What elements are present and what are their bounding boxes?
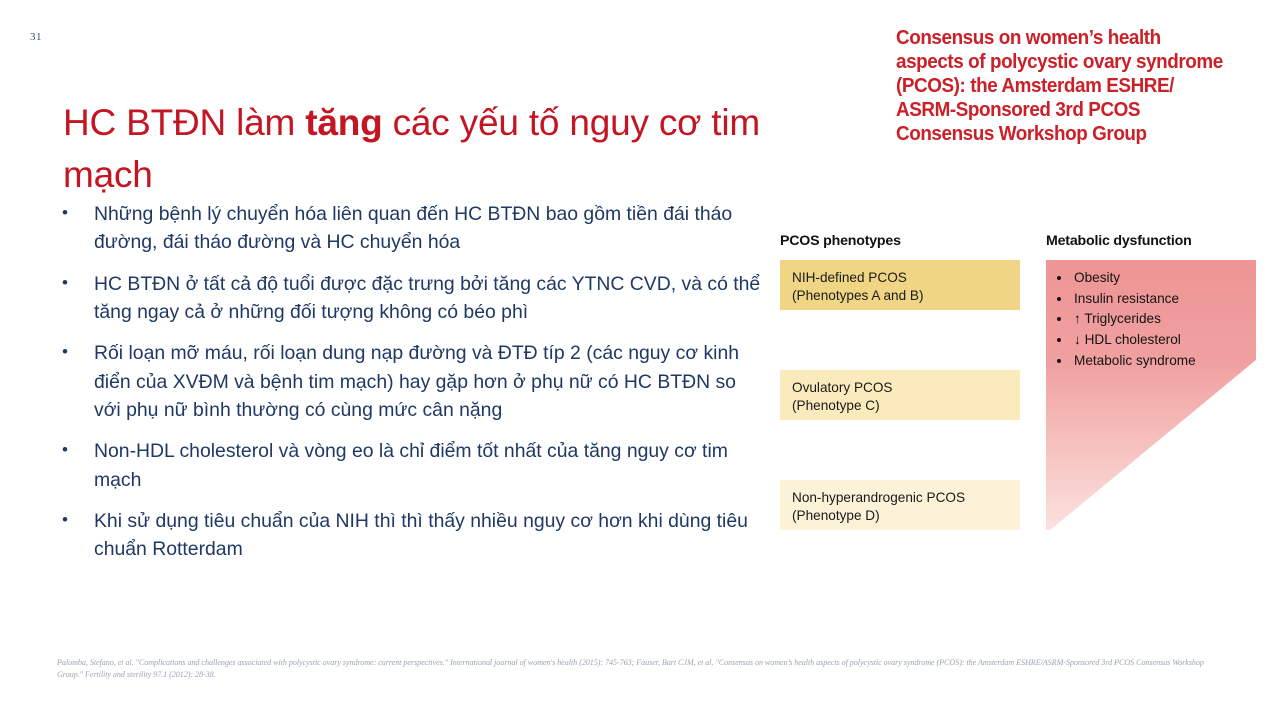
metabolic-item: Insulin resistance bbox=[1072, 289, 1256, 310]
metabolic-dysfunction-list: Obesity Insulin resistance ↑ Triglycerid… bbox=[1046, 260, 1256, 371]
phenotype-box-nih: NIH-defined PCOS (Phenotypes A and B) bbox=[780, 260, 1020, 310]
list-item-text: Khi sử dụng tiêu chuẩn của NIH thì thì t… bbox=[94, 507, 768, 564]
phenotype-box-ovulatory: Ovulatory PCOS (Phenotype C) bbox=[780, 370, 1020, 420]
slide-number: 31 bbox=[30, 31, 42, 43]
list-item-text: Non-HDL cholesterol và vòng eo là chỉ đi… bbox=[94, 437, 768, 494]
citation-footer: Palomba, Stefano, et al. "Complications … bbox=[57, 657, 1217, 682]
title-emphasis: tăng bbox=[305, 102, 382, 143]
page-title: HC BTĐN làm tăng các yếu tố nguy cơ tim … bbox=[63, 97, 853, 202]
metabolic-item: Obesity bbox=[1072, 268, 1256, 289]
list-item-text: Rối loạn mỡ máu, rối loạn dung nạp đường… bbox=[94, 339, 768, 424]
list-item-text: Những bệnh lý chuyển hóa liên quan đến H… bbox=[94, 200, 768, 257]
journal-title-line-5: Consensus Workshop Group bbox=[896, 122, 1242, 146]
metabolic-column-heading: Metabolic dysfunction bbox=[1046, 233, 1192, 249]
journal-title-block: Consensus on women’s health aspects of p… bbox=[896, 26, 1242, 146]
metabolic-dysfunction-wedge: Obesity Insulin resistance ↑ Triglycerid… bbox=[1046, 260, 1256, 530]
bullet-marker-icon: • bbox=[62, 437, 94, 494]
list-item: • Khi sử dụng tiêu chuẩn của NIH thì thì… bbox=[62, 507, 768, 564]
bullet-marker-icon: • bbox=[62, 200, 94, 257]
phenotype-box-ovulatory-line2: (Phenotype C) bbox=[792, 397, 1020, 415]
phenotype-box-nih-line1: NIH-defined PCOS bbox=[792, 269, 1020, 287]
phenotype-box-non-hyperandrogenic-line1: Non-hyperandrogenic PCOS bbox=[792, 489, 1020, 507]
metabolic-item: ↓ HDL cholesterol bbox=[1072, 330, 1256, 351]
phenotype-box-ovulatory-line1: Ovulatory PCOS bbox=[792, 379, 1020, 397]
journal-title-line-1: Consensus on women’s health bbox=[896, 26, 1242, 50]
bullet-marker-icon: • bbox=[62, 270, 94, 327]
bullet-list: • Những bệnh lý chuyển hóa liên quan đến… bbox=[62, 200, 768, 577]
journal-title-line-3: (PCOS): the Amsterdam ESHRE/ bbox=[896, 74, 1242, 98]
phenotype-box-non-hyperandrogenic: Non-hyperandrogenic PCOS (Phenotype D) bbox=[780, 480, 1020, 530]
phenotype-box-non-hyperandrogenic-line2: (Phenotype D) bbox=[792, 507, 1020, 525]
list-item: • Rối loạn mỡ máu, rối loạn dung nạp đườ… bbox=[62, 339, 768, 424]
list-item-text: HC BTĐN ở tất cả độ tuổi được đặc trưng … bbox=[94, 270, 768, 327]
list-item: • Non-HDL cholesterol và vòng eo là chỉ … bbox=[62, 437, 768, 494]
list-item: • Những bệnh lý chuyển hóa liên quan đến… bbox=[62, 200, 768, 257]
phenotypes-column-heading: PCOS phenotypes bbox=[780, 233, 901, 249]
metabolic-item: Metabolic syndrome bbox=[1072, 351, 1256, 372]
journal-title-line-2: aspects of polycystic ovary syndrome bbox=[896, 50, 1242, 74]
title-part-1: HC BTĐN làm bbox=[63, 102, 305, 143]
metabolic-item: ↑ Triglycerides bbox=[1072, 309, 1256, 330]
slide-canvas: 31 Consensus on women’s health aspects o… bbox=[0, 0, 1280, 720]
bullet-marker-icon: • bbox=[62, 507, 94, 564]
list-item: • HC BTĐN ở tất cả độ tuổi được đặc trưn… bbox=[62, 270, 768, 327]
journal-title-line-4: ASRM-Sponsored 3rd PCOS bbox=[896, 98, 1242, 122]
pcos-phenotype-diagram: PCOS phenotypes Metabolic dysfunction NI… bbox=[770, 215, 1270, 535]
bullet-marker-icon: • bbox=[62, 339, 94, 424]
phenotype-box-nih-line2: (Phenotypes A and B) bbox=[792, 287, 1020, 305]
